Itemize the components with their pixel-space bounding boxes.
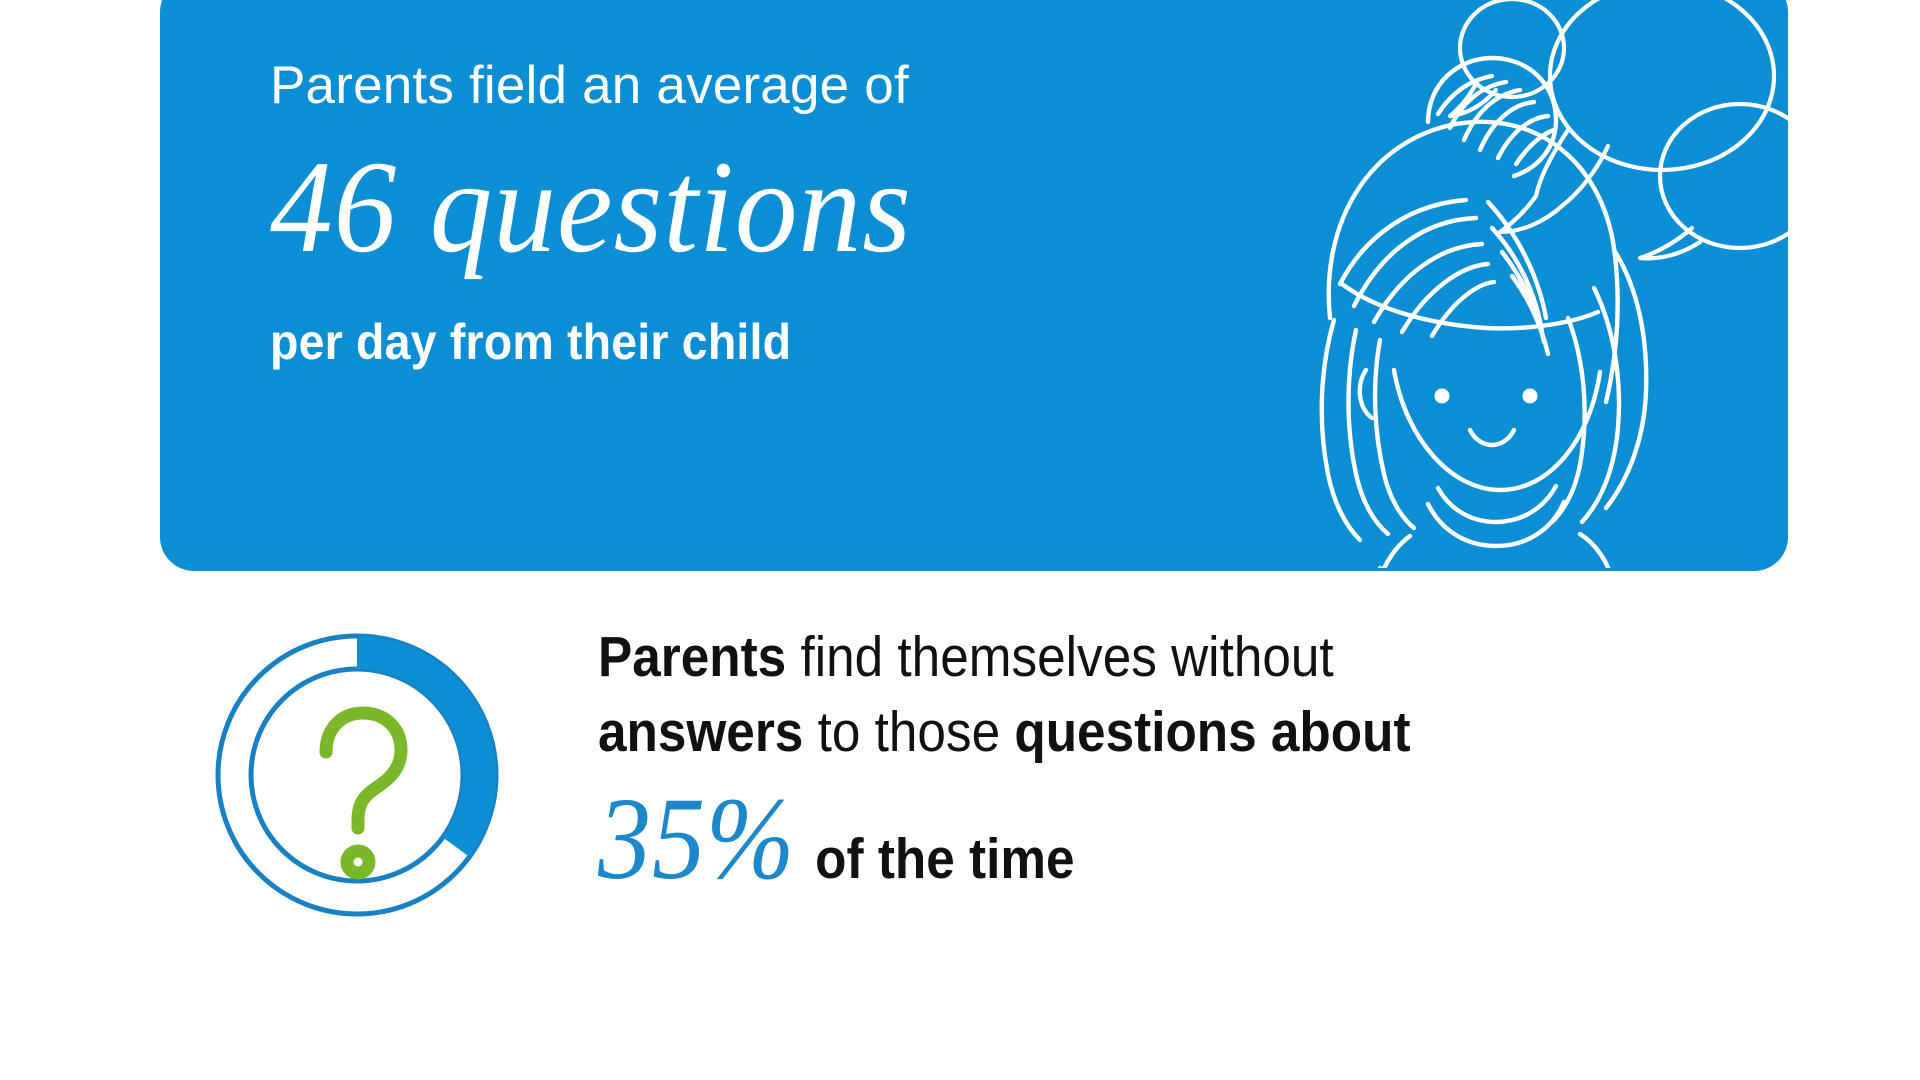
stat-line-2-bold-a: answers xyxy=(598,700,803,764)
stat-line-1-bold: Parents xyxy=(598,625,786,689)
headline-bottom-line: per day from their child xyxy=(270,316,1088,369)
headline-card: Parents field an average of 46 questions… xyxy=(160,0,1788,571)
girl-line-art-icon xyxy=(1170,0,1788,568)
stat-line-2: answers to those questions about xyxy=(598,695,1498,770)
donut-chart xyxy=(212,630,502,920)
stat-line-1: Parents find themselves without xyxy=(598,620,1498,695)
stat-line-2-mid: to those xyxy=(803,700,1014,764)
infographic-canvas: Parents field an average of 46 questions… xyxy=(0,0,1920,1080)
stat-block: Parents find themselves without answers … xyxy=(0,640,1920,1040)
headline-number: 46 questions xyxy=(270,138,1106,277)
question-mark-icon xyxy=(326,713,401,873)
stat-text-group: Parents find themselves without answers … xyxy=(598,620,1598,898)
donut-value-arc xyxy=(235,653,480,898)
percent-suffix: of the time xyxy=(815,826,1074,892)
stat-line-2-bold-b: questions about xyxy=(1014,700,1410,764)
stat-line-1-rest: find themselves without xyxy=(786,625,1333,689)
headline-top-line: Parents field an average of xyxy=(270,58,1150,114)
percent-value: 35% xyxy=(598,780,795,898)
stat-line-3: 35% of the time xyxy=(598,780,1498,898)
headline-text-group: Parents field an average of 46 questions… xyxy=(270,58,1150,369)
